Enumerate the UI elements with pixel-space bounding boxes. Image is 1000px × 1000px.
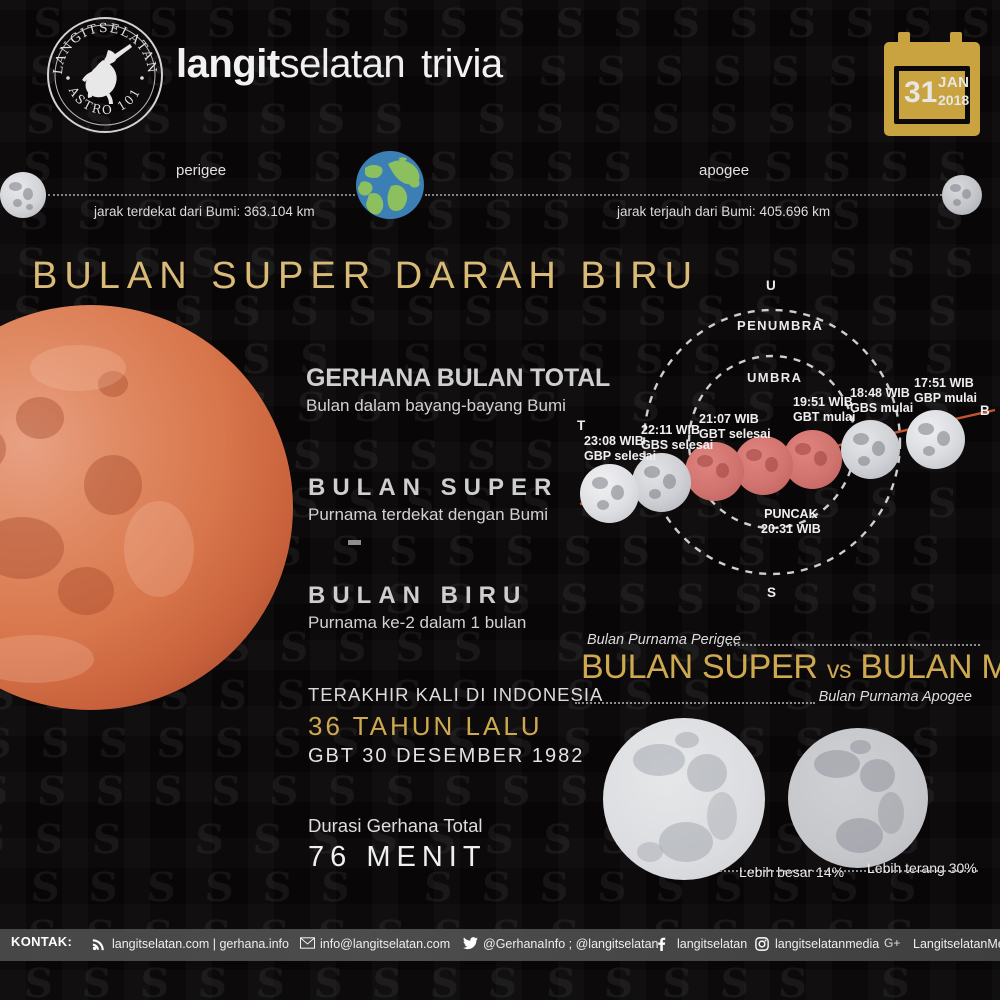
phase-label-gbt-mulai: 19:51 WIB GBT mulai xyxy=(793,395,856,425)
footer-item-twitter[interactable]: @GerhanaInfo ; @langitselatan xyxy=(463,937,658,951)
feature-bulan-super: BULAN SUPER Purnama terdekat dengan Bumi xyxy=(308,474,558,525)
duration-block: Durasi Gerhana Total 76 MENIT xyxy=(308,815,487,874)
phase-label-gbs-mulai: 18:48 WIB GBS mulai xyxy=(850,386,913,416)
supermoon-disc xyxy=(603,718,765,880)
peak-time: 20:31 WIB xyxy=(761,522,821,537)
compare-bottom-line xyxy=(575,702,815,704)
compare-title: BULAN SUPER vs BULAN MINI xyxy=(581,648,1000,687)
calendar-day: 31 xyxy=(904,77,937,109)
feature-subtitle: Purnama ke-2 dalam 1 bulan xyxy=(308,613,527,633)
brand-trivia: trivia xyxy=(421,42,502,86)
footer-item-facebook[interactable]: langitselatan xyxy=(657,937,747,951)
compare-bottom-caption: Bulan Purnama Apogee xyxy=(819,689,972,705)
cardinal-s: S xyxy=(767,585,776,600)
peak-label: PUNCAK xyxy=(761,507,821,522)
compare-stat-brightness: Lebih terang 30% xyxy=(867,860,977,876)
rss-icon xyxy=(92,937,107,951)
phase-time: 23:08 WIB xyxy=(584,434,656,449)
perigee-line xyxy=(48,194,355,196)
cardinal-b: B xyxy=(980,403,990,418)
langitselatan-logo[interactable]: LANGITSELATAN ASTRO 101 xyxy=(46,16,164,134)
perigee-apogee-band: perigee jarak terdekat dari Bumi: 363.10… xyxy=(0,152,1000,260)
penumbra-label: PENUMBRA xyxy=(737,318,823,333)
duration-value: 76 MENIT xyxy=(308,841,487,874)
envelope-icon xyxy=(300,937,315,951)
brand-bold: langit xyxy=(176,42,280,86)
duration-label: Durasi Gerhana Total xyxy=(308,815,487,837)
feature-title: BULAN BIRU xyxy=(308,582,527,610)
eclipse-moon-gbs-mulai xyxy=(841,420,900,479)
compare-top-line xyxy=(727,644,980,646)
perigee-distance: jarak terdekat dari Bumi: 363.104 km xyxy=(94,204,315,219)
phase-event: GBP mulai xyxy=(914,391,977,406)
peak-label-block: PUNCAK 20:31 WIB xyxy=(761,507,821,537)
googleplus-icon: G+ xyxy=(884,937,908,951)
footer-item-text: langitselatanmedia xyxy=(775,937,879,951)
twitter-icon xyxy=(463,937,478,951)
last-occurrence-block: TERAKHIR KALI DI INDONESIA 36 TAHUN LALU… xyxy=(308,684,603,768)
feature-title: BULAN SUPER xyxy=(308,474,558,502)
compare-title-left: BULAN SUPER xyxy=(581,648,818,686)
phase-event: GBS mulai xyxy=(850,401,913,416)
blood-moon-image xyxy=(0,305,293,710)
footer-item-text: @GerhanaInfo ; @langitselatan xyxy=(483,937,658,951)
footer-kontak-label: KONTAK: xyxy=(11,934,72,949)
footer-item-googleplus[interactable]: G+ LangitselatanMedia xyxy=(884,937,1000,951)
compare-title-right: BULAN MINI xyxy=(860,648,1000,686)
phase-time: 18:48 WIB xyxy=(850,386,913,401)
footer-item-text: LangitselatanMedia xyxy=(913,937,1000,951)
feature-bulan-biru: BULAN BIRU Purnama ke-2 dalam 1 bulan xyxy=(308,582,527,633)
calendar-month: JAN xyxy=(938,75,970,90)
eclipse-moon-gbp-selesai xyxy=(580,464,639,523)
compare-top-caption: Bulan Purnama Perigee xyxy=(587,632,741,648)
compare-stat-size: Lebih besar 14% xyxy=(739,864,844,880)
calendar-inner-frame: 31 JAN 2018 xyxy=(894,66,970,124)
footer-item-text: info@langitselatan.com xyxy=(320,937,450,951)
phase-event: GBT mulai xyxy=(793,410,856,425)
footer-item-instagram[interactable]: langitselatanmedia xyxy=(755,937,879,951)
footer-item-text: langitselatan.com | gerhana.info xyxy=(112,937,289,951)
divider-dash xyxy=(348,540,361,545)
compare-title-vs: vs xyxy=(827,656,851,684)
apogee-moon-icon xyxy=(942,175,982,215)
earth-globe-icon xyxy=(355,150,425,220)
footer-item-email[interactable]: info@langitselatan.com xyxy=(300,937,450,951)
last-occurrence-years: 36 TAHUN LALU xyxy=(308,711,603,742)
last-occurrence-date: GBT 30 DESEMBER 1982 xyxy=(308,745,603,768)
phase-label-gbp-selesai: 23:08 WIB GBP selesai xyxy=(584,434,656,464)
cardinal-u: U xyxy=(766,278,776,293)
cardinal-t: T xyxy=(577,418,585,433)
phase-label-gbp-mulai: 17:51 WIB GBP mulai xyxy=(914,376,977,406)
phase-time: 17:51 WIB xyxy=(914,376,977,391)
svg-text:G+: G+ xyxy=(884,937,900,950)
calendar-icon: 31 JAN 2018 xyxy=(884,32,980,136)
last-occurrence-label: TERAKHIR KALI DI INDONESIA xyxy=(308,684,603,706)
feature-subtitle: Purnama terdekat dengan Bumi xyxy=(308,505,558,525)
eclipse-timeline-diagram: U S T B PENUMBRA UMBRA xyxy=(540,272,1000,612)
apogee-label: apogee xyxy=(699,162,749,179)
footer-item-website[interactable]: langitselatan.com | gerhana.info xyxy=(92,937,289,951)
header: LANGITSELATAN ASTRO 101 langitselatan xyxy=(0,0,1000,150)
brand-light: selatan xyxy=(280,42,405,86)
calendar-body: 31 JAN 2018 xyxy=(884,42,980,136)
instagram-icon xyxy=(755,937,770,951)
phase-time: 19:51 WIB xyxy=(793,395,856,410)
perigee-label: perigee xyxy=(176,162,226,179)
calendar-year: 2018 xyxy=(938,93,969,107)
facebook-icon xyxy=(657,937,672,951)
calendar-date-plate: 31 JAN 2018 xyxy=(899,71,965,119)
eclipse-moon-gbp-mulai xyxy=(906,410,965,469)
logo-emblem-icon: LANGITSELATAN ASTRO 101 xyxy=(46,16,164,134)
brand-title: langitselatantrivia xyxy=(176,42,503,87)
footer-item-text: langitselatan xyxy=(677,937,747,951)
phase-event: GBP selesai xyxy=(584,449,656,464)
infographic-root: SSSSSSSSSSSSSSSSSSSS SSSSSSSSSSSSSSSSSSS… xyxy=(0,0,1000,1000)
apogee-distance: jarak terjauh dari Bumi: 405.696 km xyxy=(617,204,830,219)
apogee-line xyxy=(425,194,942,196)
minimoon-disc xyxy=(788,728,928,868)
umbra-label: UMBRA xyxy=(747,370,802,385)
perigee-moon-icon xyxy=(0,172,46,218)
super-vs-mini-section: Bulan Purnama Perigee BULAN SUPER vs BUL… xyxy=(575,632,980,892)
